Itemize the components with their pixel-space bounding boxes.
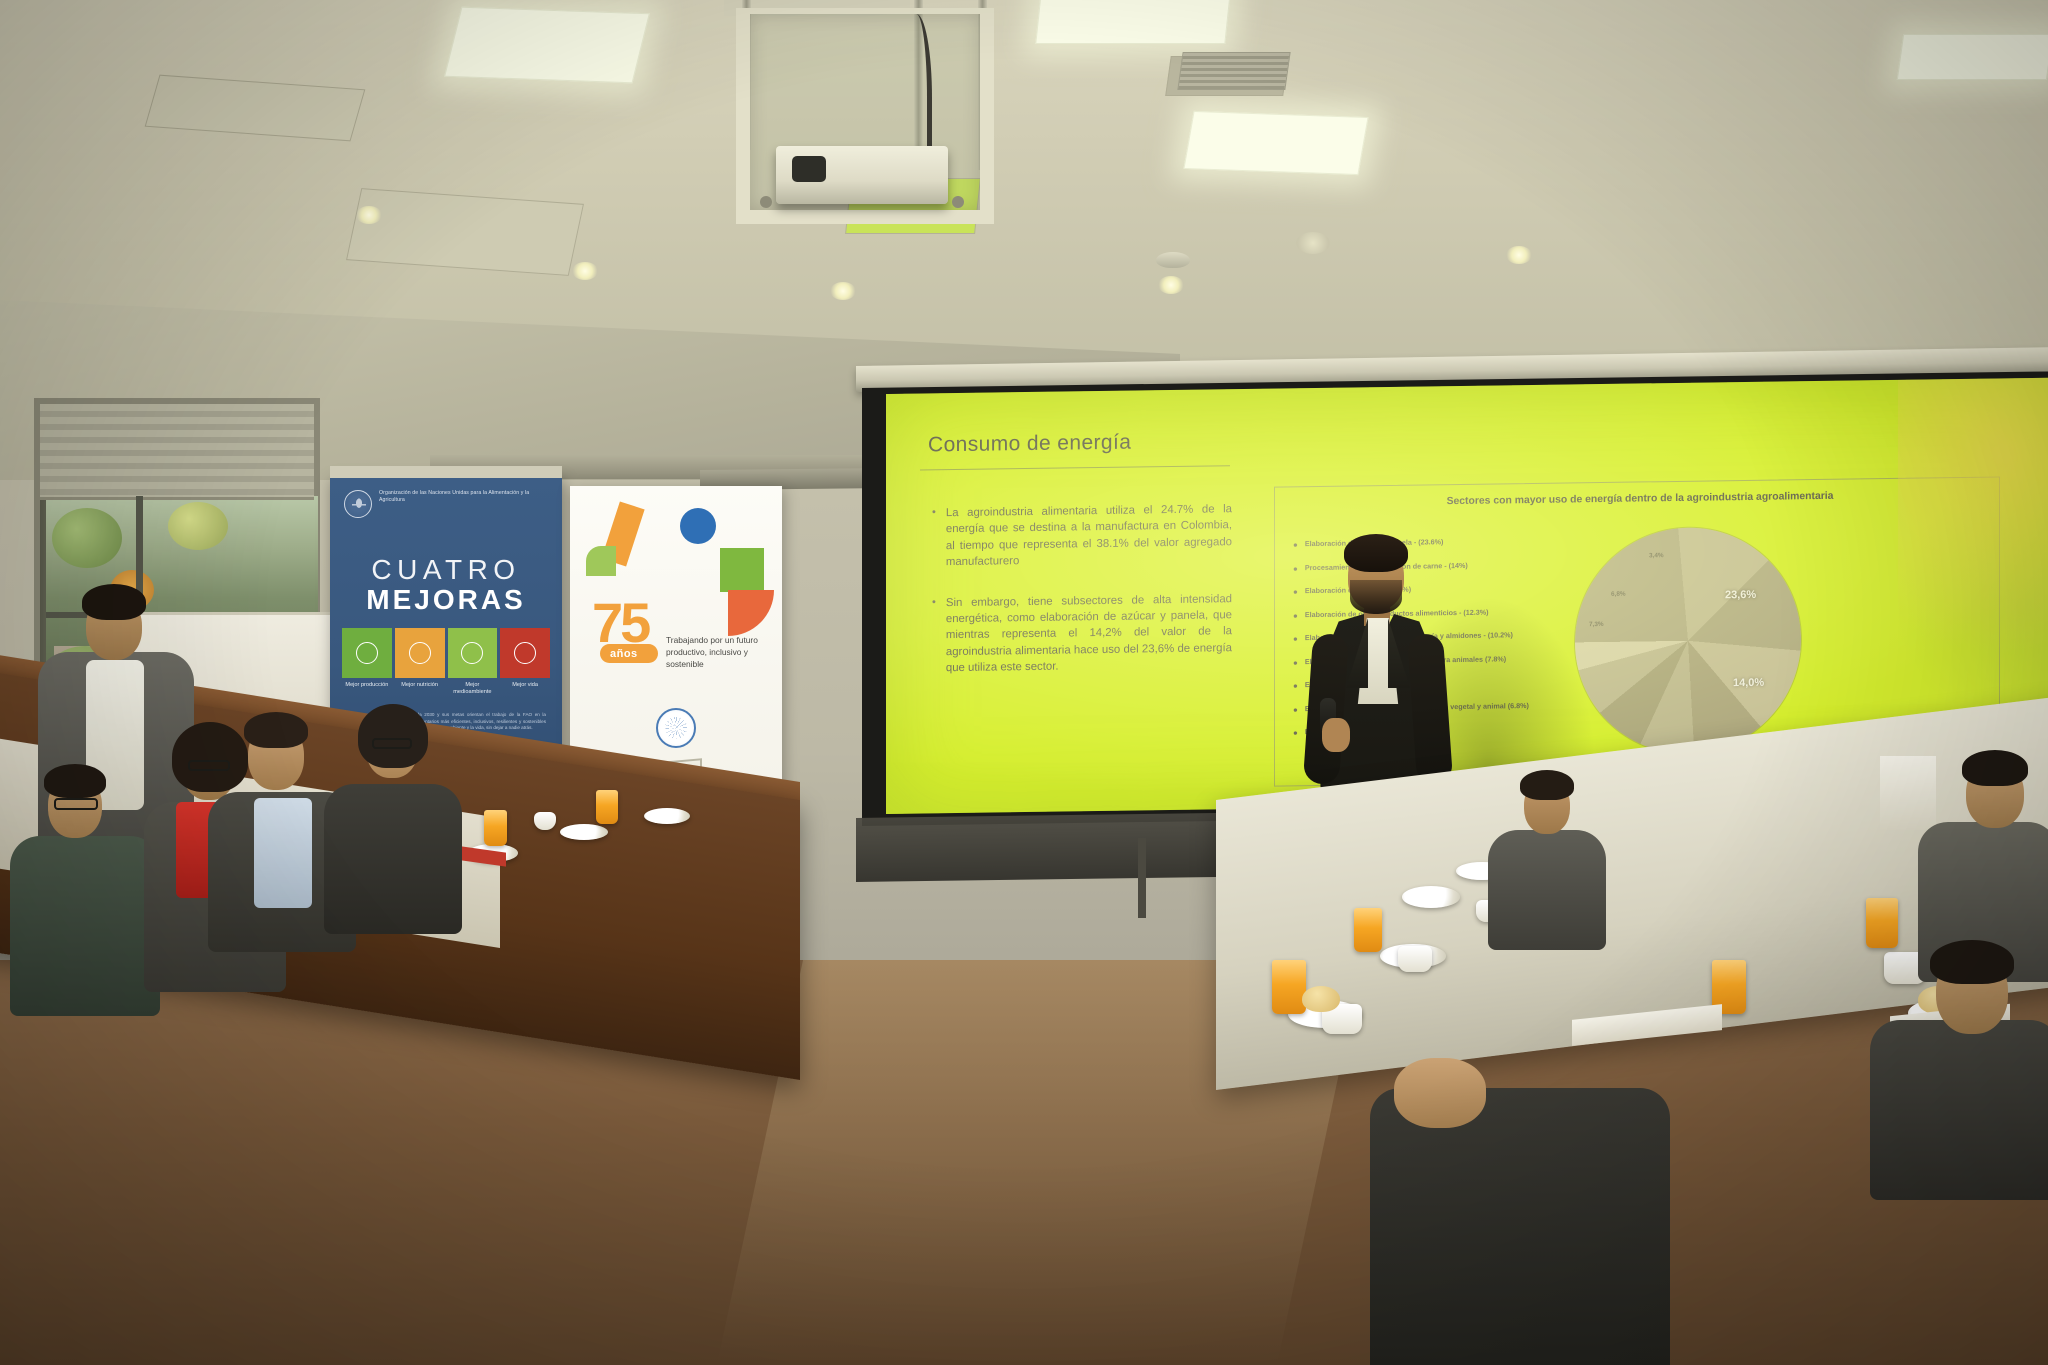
attendee-hair xyxy=(1930,940,2014,984)
downlight xyxy=(1158,276,1184,294)
downlight xyxy=(1506,246,1532,264)
juice-glass xyxy=(484,810,507,846)
banner-anios-label: años xyxy=(610,648,638,660)
bread-roll xyxy=(1302,986,1340,1012)
pillar-label: Mejor nutrición xyxy=(401,682,438,689)
juice-glass xyxy=(1272,960,1306,1014)
shape xyxy=(720,548,764,592)
pillar-label: Mejor producción xyxy=(345,682,388,689)
attendee-1 xyxy=(10,746,160,1006)
downlight xyxy=(356,206,382,224)
screen-support xyxy=(1138,838,1146,918)
coffee-cup xyxy=(1398,946,1432,972)
bullet-dot-icon: • xyxy=(932,595,936,677)
shape xyxy=(680,508,716,544)
sectors-panel-title: Sectores con mayor uso de energía dentro… xyxy=(1405,489,1875,510)
pie-label-aceites: 6,8% xyxy=(1611,591,1626,598)
attendee-torso xyxy=(1870,1020,2048,1200)
slide-bullet-text: La agroindustria alimentaria utiliza el … xyxy=(946,501,1232,571)
pillar-vida: Mejor vida xyxy=(500,628,550,700)
slide-bullet: • Sin embargo, tiene subsectores de alta… xyxy=(932,591,1232,677)
attendee-torso xyxy=(10,836,160,1016)
downlight xyxy=(572,262,598,280)
bullet-dot-icon: ● xyxy=(1293,563,1298,574)
attendee-hair xyxy=(82,584,146,620)
slide-title: Consumo de energía xyxy=(928,431,1131,458)
attendee-hair xyxy=(358,704,428,768)
attendee-torso xyxy=(1370,1088,1670,1365)
bullet-dot-icon: ● xyxy=(1293,704,1298,715)
attendee-hair xyxy=(1520,770,1574,800)
fao-logo: Organización de las Naciones Unidas para… xyxy=(344,490,544,522)
pie-label-azucar: 23,6% xyxy=(1725,589,1756,601)
smoke-detector-icon xyxy=(1156,252,1190,268)
bullet-dot-icon: ● xyxy=(1293,539,1298,550)
photo-scene: Organización de las Naciones Unidas para… xyxy=(0,0,2048,1365)
plate xyxy=(560,824,608,840)
bullet-dot-icon: ● xyxy=(1293,727,1298,738)
un-globe-icon xyxy=(656,708,696,748)
attendee-hair xyxy=(44,764,106,798)
slide-title-rule xyxy=(920,465,1230,470)
ceiling-light-panel xyxy=(1035,0,1230,44)
attendee-right-1 xyxy=(1488,760,1608,940)
attendee-4 xyxy=(324,690,464,920)
projector-lens-icon xyxy=(792,156,826,182)
pillar-tile xyxy=(395,628,445,678)
slide-bullet-list: • La agroindustria alimentaria utiliza e… xyxy=(932,501,1232,701)
banner-top-rail xyxy=(330,466,562,478)
shape xyxy=(728,590,774,636)
pie-label-carne: 14,0% xyxy=(1733,677,1764,689)
pillar-tile xyxy=(500,628,550,678)
juice-glass xyxy=(1354,908,1382,952)
downlight xyxy=(830,282,856,300)
projector-mount-screw xyxy=(952,196,964,208)
coffee-cup xyxy=(534,812,556,830)
attendee-hand xyxy=(1394,1058,1486,1128)
projector-mount-screw xyxy=(760,196,772,208)
presenter-beard xyxy=(1350,580,1402,614)
attendee-hair xyxy=(244,712,308,748)
fao-wheat-emblem-icon xyxy=(344,490,372,518)
shape xyxy=(586,546,616,576)
slide-bullet-text: Sin embargo, tiene subsectores de alta i… xyxy=(946,591,1232,677)
attendee-shirt xyxy=(254,798,312,908)
heart-icon xyxy=(514,642,536,664)
leaf-icon xyxy=(461,642,483,664)
window-blind xyxy=(40,404,314,500)
pillar-tile xyxy=(448,628,498,678)
plant-icon xyxy=(356,642,378,664)
juice-glass xyxy=(596,790,618,824)
ceiling-light-panel xyxy=(444,7,650,84)
air-vent xyxy=(1177,52,1290,90)
pie-label-cafe: 3,4% xyxy=(1649,552,1664,559)
attendee-torso xyxy=(1488,830,1606,950)
presenter-hair xyxy=(1344,534,1408,572)
fao-org-name: Organización de las Naciones Unidas para… xyxy=(379,490,544,503)
plate xyxy=(1402,886,1460,908)
bowl-icon xyxy=(409,642,431,664)
pillar-tile xyxy=(342,628,392,678)
ceiling-light-panel xyxy=(1897,34,2048,80)
foliage xyxy=(168,502,228,550)
banner-title-line2: MEJORAS xyxy=(330,584,562,616)
presenter-hand xyxy=(1322,718,1350,752)
recessed-light xyxy=(1296,232,1330,254)
banner-tagline: Trabajando por un futuro productivo, inc… xyxy=(666,634,770,670)
ceiling-light-panel xyxy=(1183,111,1368,175)
eyeglasses-icon xyxy=(372,738,412,749)
bullet-dot-icon: ● xyxy=(1293,657,1298,668)
bullet-dot-icon: ● xyxy=(1293,586,1298,597)
bullet-dot-icon: ● xyxy=(1293,610,1298,621)
banner-title-line1: CUATRO xyxy=(330,554,562,586)
pillar-label: Mejor vida xyxy=(512,682,538,689)
slide-bullet: • La agroindustria alimentaria utiliza e… xyxy=(932,501,1232,571)
pie-chart-disc xyxy=(1575,526,1801,755)
attendee-right-3 xyxy=(1870,940,2048,1200)
bullet-dot-icon: • xyxy=(932,505,936,571)
plate xyxy=(644,808,690,824)
attendee-hair xyxy=(1962,750,2028,786)
bullet-dot-icon: ● xyxy=(1293,680,1298,691)
eyeglasses-icon xyxy=(54,798,98,810)
attendee-torso xyxy=(324,784,462,934)
attendee-right-foreground xyxy=(1370,1028,1670,1365)
bullet-dot-icon: ● xyxy=(1293,633,1298,644)
attendee-right-2 xyxy=(1918,742,2048,972)
